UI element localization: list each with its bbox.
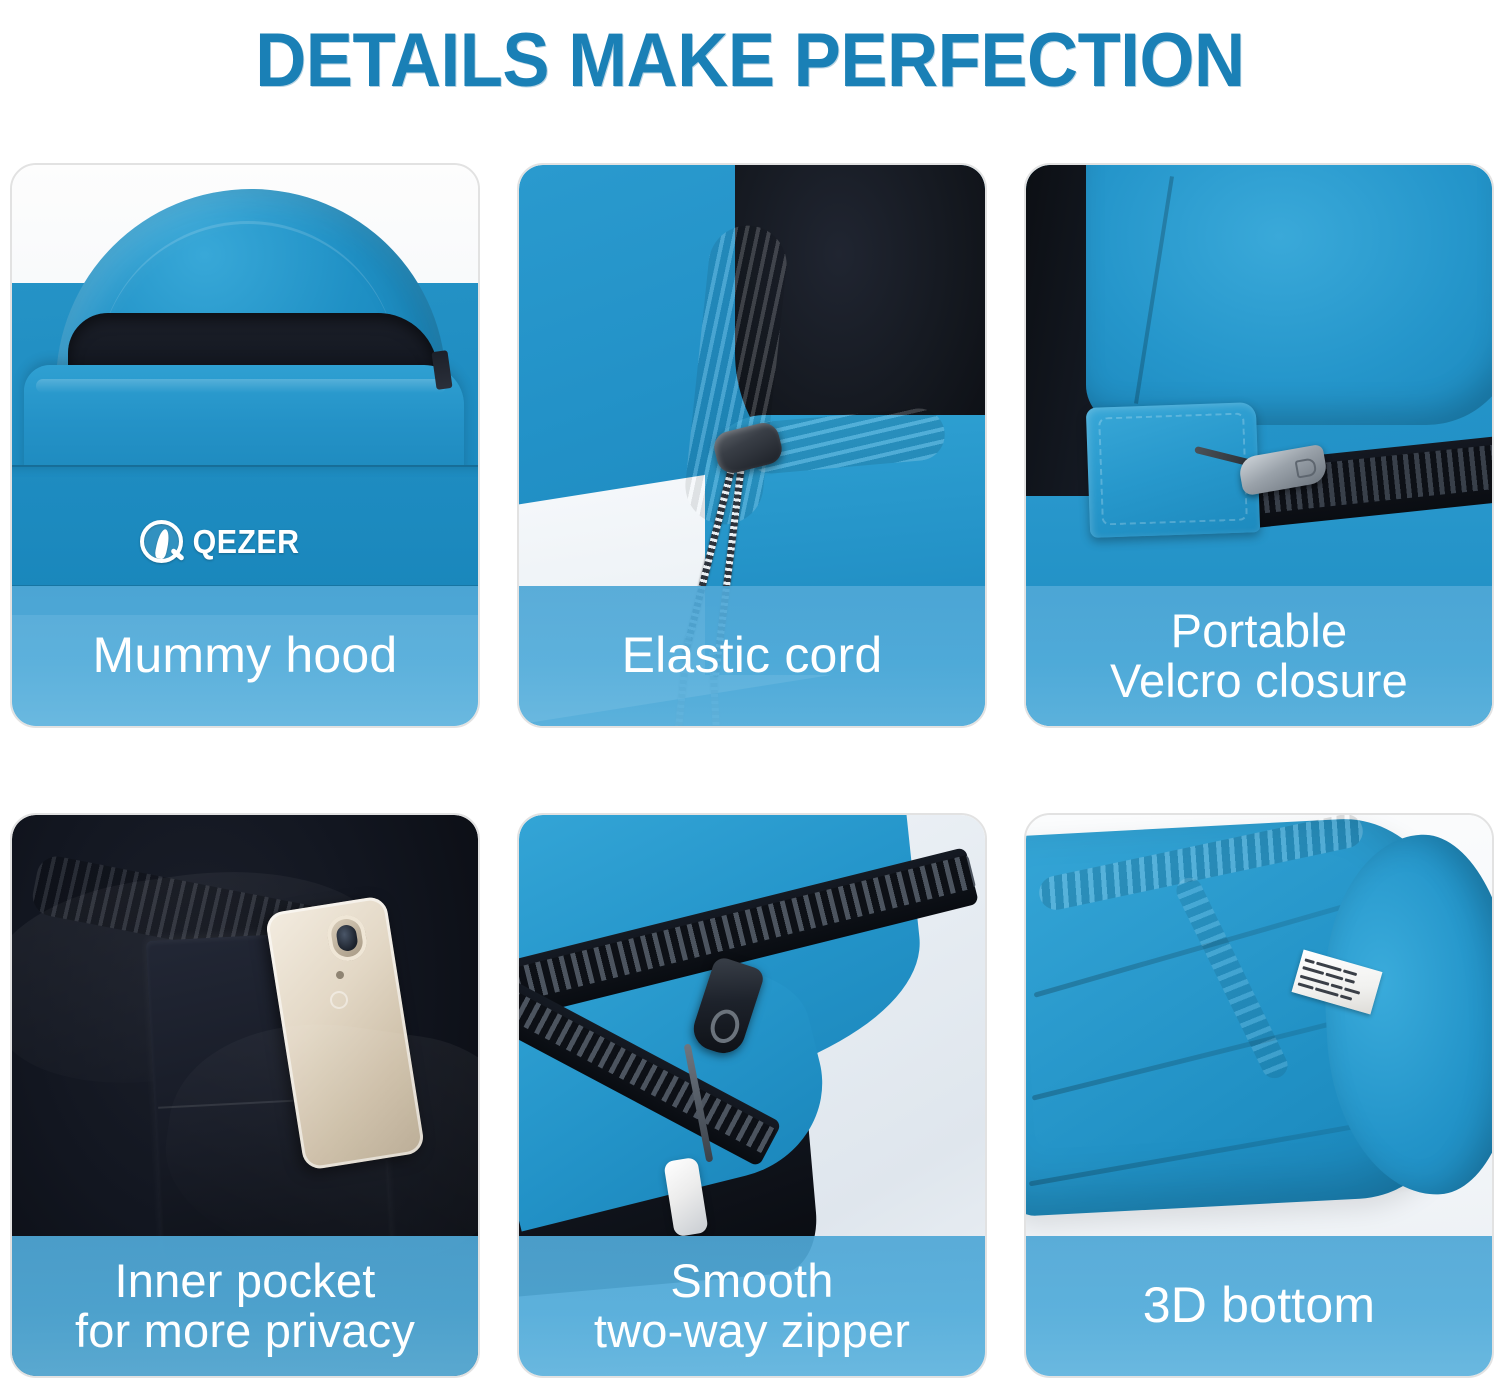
feather-in-circle-icon [140, 520, 183, 563]
care-label-mark [1344, 978, 1354, 984]
card-caption-3d-bottom: 3D bottom [1026, 1236, 1492, 1376]
card-caption-inner-pocket: Inner pocket for more privacy [12, 1236, 478, 1376]
care-label-mark [1340, 995, 1352, 1001]
velcro-stitching [1098, 412, 1248, 525]
feature-card-elastic-cord[interactable]: Elastic cord [517, 163, 987, 728]
caption-line: Smooth [670, 1256, 833, 1306]
caption-line: Portable [1171, 606, 1348, 656]
care-label-mark [1315, 988, 1339, 997]
feature-card-inner-pocket[interactable]: Inner pocket for more privacy [10, 813, 480, 1378]
caption-line: Inner pocket [114, 1256, 375, 1306]
brand-logo: QEZER [140, 520, 304, 563]
collar-fold-highlight [36, 379, 446, 393]
blue-fabric-fold [1086, 165, 1492, 425]
care-label-mark [1302, 966, 1324, 975]
card-caption-two-way-zipper: Smooth two-way zipper [519, 1236, 985, 1376]
feature-card-grid: QEZER Mummy hood Elastic cord [10, 163, 1494, 1378]
quilt-seam-line [12, 465, 478, 467]
caption-line: 3D bottom [1143, 1279, 1375, 1333]
feature-card-3d-bottom[interactable]: 3D bottom [1024, 813, 1494, 1378]
card-caption-mummy-hood: Mummy hood [12, 586, 478, 726]
feature-card-mummy-hood[interactable]: QEZER Mummy hood [10, 163, 480, 728]
caption-line: for more privacy [75, 1306, 415, 1356]
caption-line: Elastic cord [622, 629, 883, 683]
header-banner: DETAILS MAKE PERFECTION [0, 0, 1500, 120]
caption-line: two-way zipper [594, 1306, 910, 1356]
care-label-mark [1331, 983, 1343, 989]
feature-card-two-way-zipper[interactable]: Smooth two-way zipper [517, 813, 987, 1378]
card-caption-elastic-cord: Elastic cord [519, 586, 985, 726]
page-title: DETAILS MAKE PERFECTION [255, 17, 1244, 104]
caption-line: Mummy hood [93, 629, 398, 683]
brand-logo-text: QEZER [193, 523, 300, 561]
care-label-mark [1343, 969, 1357, 976]
care-label-mark [1316, 961, 1342, 971]
care-label-mark [1344, 987, 1360, 994]
caption-line: Velcro closure [1110, 656, 1408, 706]
care-label-mark [1298, 983, 1314, 990]
feature-card-velcro-closure[interactable]: Portable Velcro closure [1024, 163, 1494, 728]
care-label-mark [1325, 973, 1343, 981]
card-caption-velcro-closure: Portable Velcro closure [1026, 586, 1492, 726]
care-label-mark [1305, 958, 1315, 964]
